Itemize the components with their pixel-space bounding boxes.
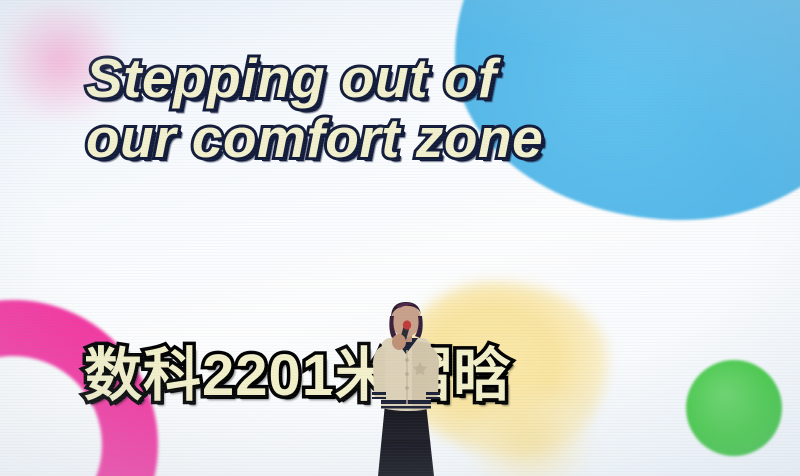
- caption-class-code: 数科2201: [84, 328, 335, 412]
- performer-button: [405, 386, 409, 390]
- performer-button: [405, 358, 409, 362]
- performer-sleeve-left: [373, 346, 385, 398]
- performer-button: [405, 372, 409, 376]
- performer-hand: [392, 334, 406, 350]
- headline-line-1: Stepping out of: [86, 52, 543, 105]
- stage-screenshot: Stepping out of our comfort zone: [0, 0, 800, 476]
- performer-skirt-pleats: [379, 440, 432, 476]
- performer-sleeve-right: [427, 346, 439, 398]
- green-circle-blob: [686, 360, 782, 456]
- performer-figure: [352, 300, 460, 476]
- headline-line-2: our comfort zone: [86, 112, 543, 165]
- slide-headline: Stepping out of our comfort zone: [86, 52, 543, 172]
